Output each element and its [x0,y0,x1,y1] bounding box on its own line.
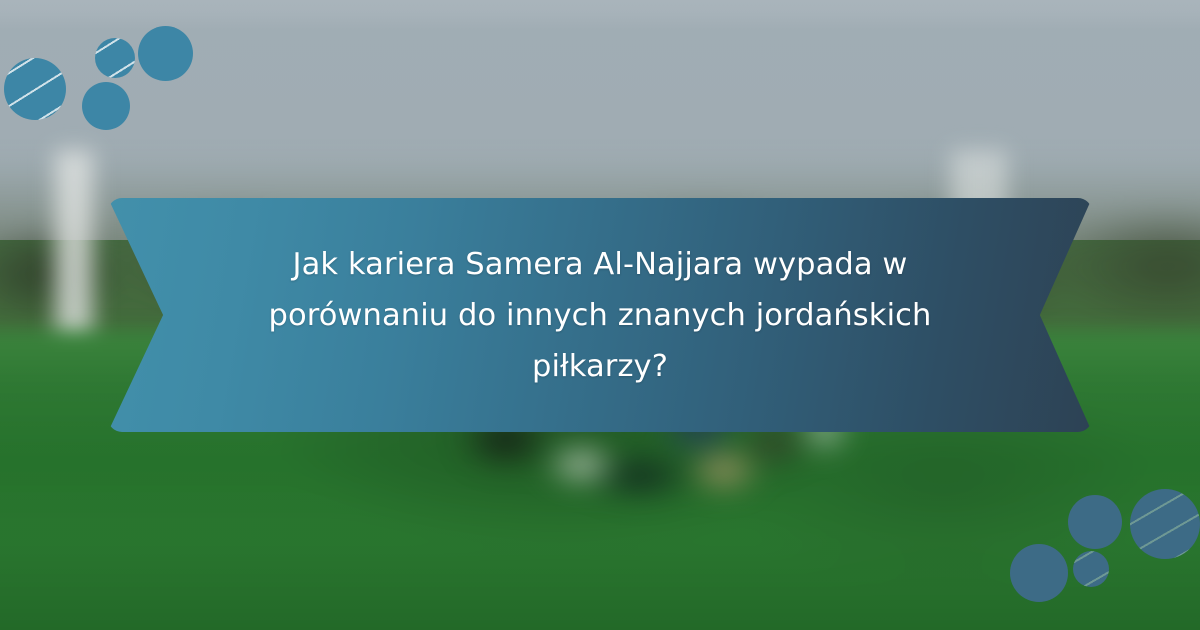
football-circle-striped-large [4,58,66,120]
page-title: Jak kariera Samera Al-Najjara wypada w p… [228,239,972,392]
football-circle-plain-large [138,26,193,81]
football-seam-lines [1073,551,1109,587]
football-seam-lines [1130,489,1200,559]
football-circle-plain-medium [1068,495,1122,549]
football-circle-striped-small [1073,551,1109,587]
football-circle-plain-large [1010,544,1068,602]
football-seam-lines [95,38,135,78]
football-seam-lines [4,58,66,120]
football-circle-plain-medium [82,82,130,130]
football-circle-striped-large [1130,489,1200,559]
social-share-card: Jak kariera Samera Al-Najjara wypada w p… [0,0,1200,630]
football-circle-striped-small [95,38,135,78]
ribbon-banner: Jak kariera Samera Al-Najjara wypada w p… [108,198,1092,432]
ribbon-banner-content: Jak kariera Samera Al-Najjara wypada w p… [108,239,1092,392]
